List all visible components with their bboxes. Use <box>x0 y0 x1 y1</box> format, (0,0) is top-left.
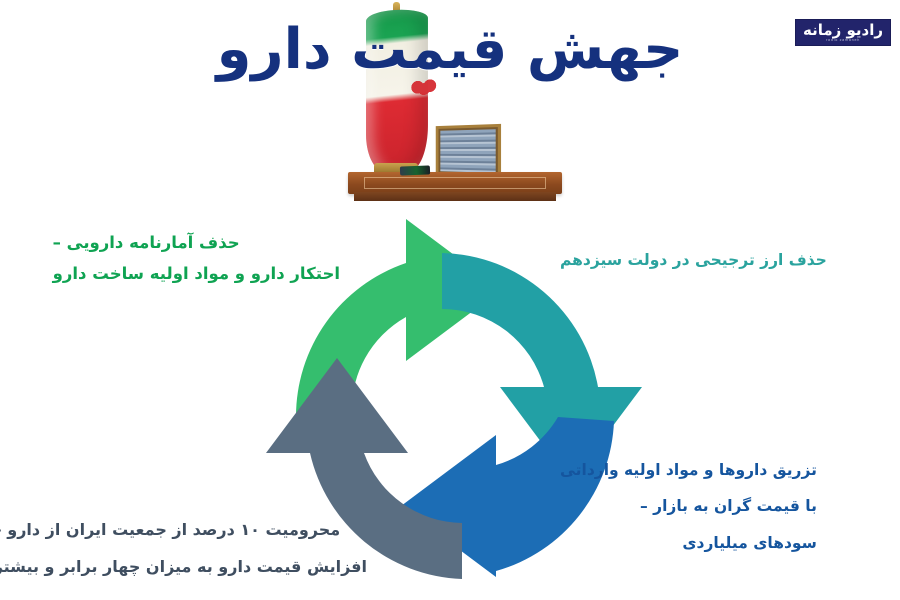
desk-inlay-border <box>364 177 546 189</box>
iran-emblem-icon <box>409 75 439 104</box>
wooden-desk-top <box>348 172 562 194</box>
cycle-label-blue-line-1: تزریق داروها و مواد اولیه وارداتی <box>560 452 817 488</box>
cycle-label-green-line-2: احتکار دارو و مواد اولیه ساخت دارو <box>53 259 340 290</box>
brand-name: رادیو زمانه <box>803 23 883 38</box>
desk-plaque <box>436 124 501 178</box>
cycle-label-blue: تزریق داروها و مواد اولیه وارداتی با قیم… <box>560 452 817 561</box>
cycle-label-gray-line-1: محرومیت ۱۰ درصد از جمعیت ایران از دارو – <box>0 512 367 549</box>
radio-zamaneh-logo[interactable]: رادیو زمانه radio zamaneh <box>795 19 891 46</box>
wooden-desk-front <box>354 192 556 201</box>
cycle-label-green: حذف آمارنامه دارویی – احتکار دارو و مواد… <box>53 228 340 289</box>
cycle-label-green-line-1: حذف آمارنامه دارویی – <box>53 228 340 259</box>
cycle-label-gray: محرومیت ۱۰ درصد از جمعیت ایران از دارو –… <box>0 512 367 586</box>
cycle-label-gray-line-2: افزایش قیمت دارو به میزان چهار برابر و ب… <box>0 549 367 586</box>
infographic-page: رادیو زمانه radio zamaneh جهش قیمت دارو <box>0 0 900 600</box>
iran-flag-and-podium-photo <box>338 0 570 205</box>
brand-subtitle: radio zamaneh <box>826 39 860 43</box>
cycle-label-blue-line-3: سودهای میلیاردی <box>560 525 817 561</box>
plaque-inner-panel <box>440 129 495 173</box>
cycle-label-teal: حذف ارز ترجیحی در دولت سیزدهم <box>560 246 827 275</box>
iran-flag-icon <box>366 8 428 173</box>
cycle-label-teal-line-1: حذف ارز ترجیحی در دولت سیزدهم <box>560 246 827 275</box>
desk-object <box>400 165 430 175</box>
cycle-label-blue-line-2: با قیمت گران به بازار – <box>560 488 817 524</box>
